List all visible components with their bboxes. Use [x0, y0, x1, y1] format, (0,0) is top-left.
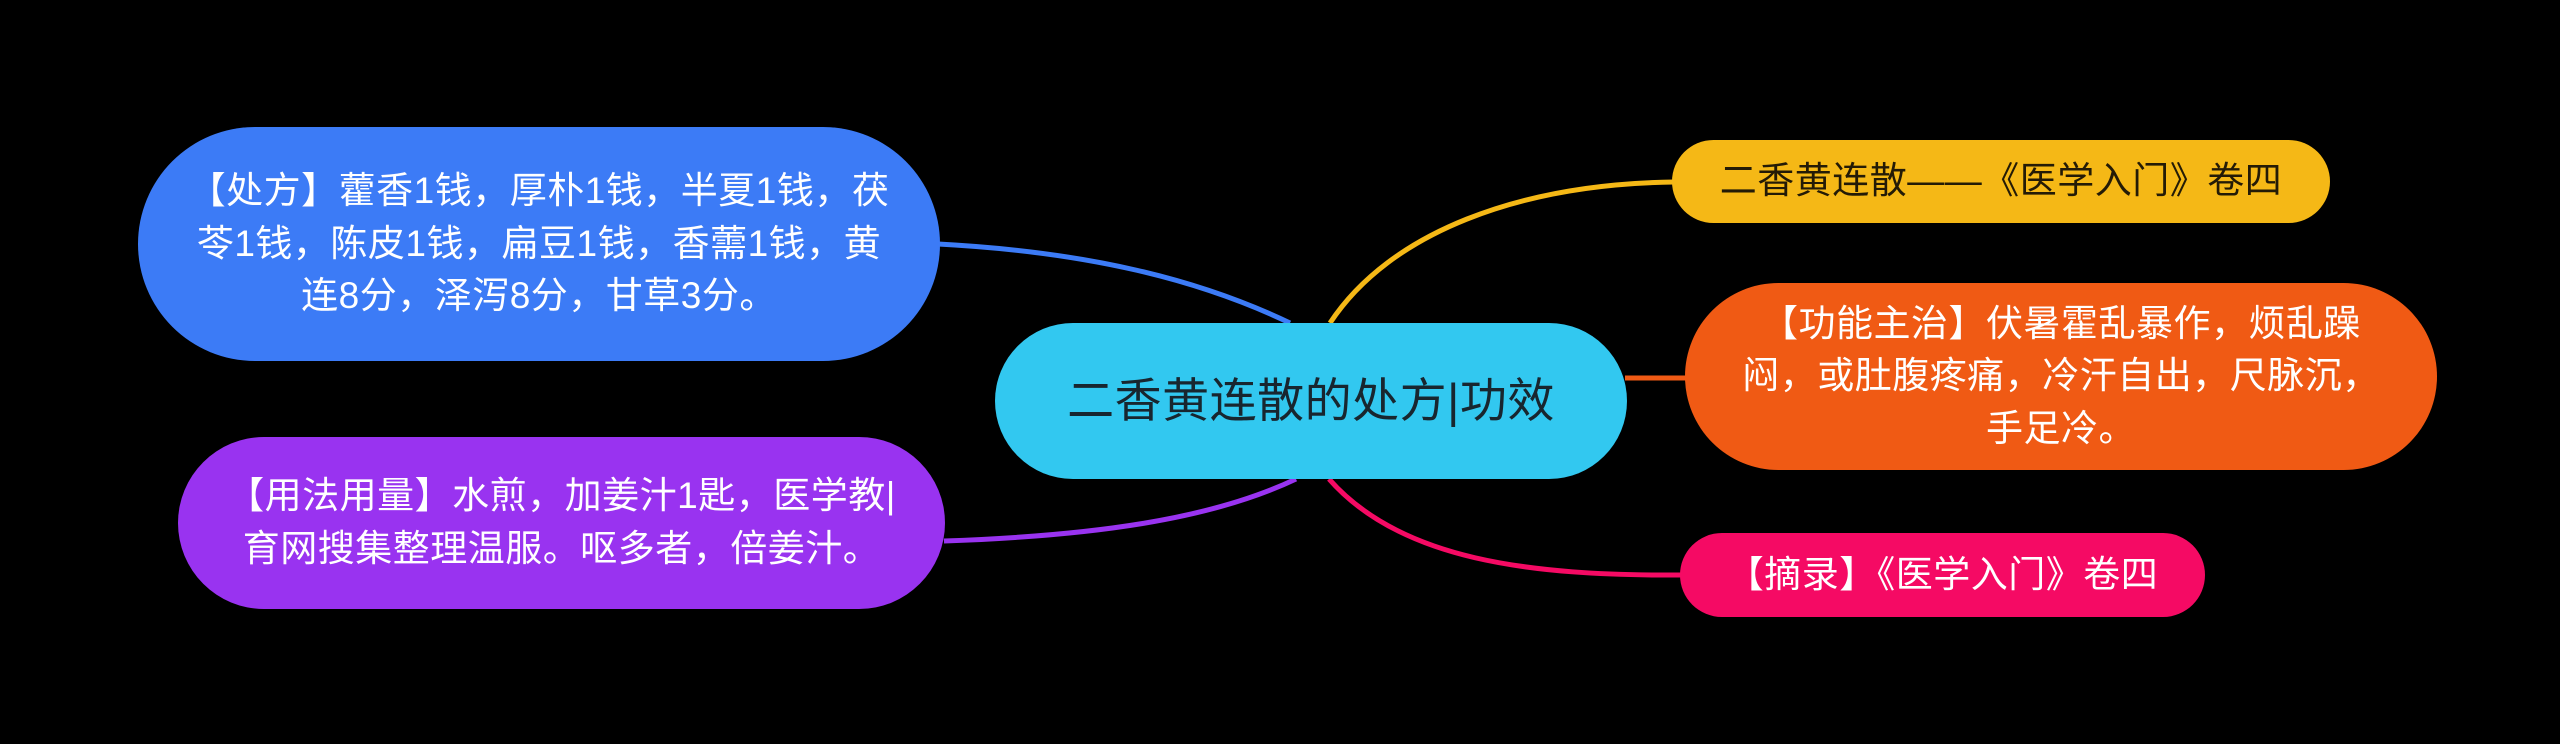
central-topic-node[interactable]: 二香黄连散的处方|功效 [995, 323, 1627, 479]
connector-source [1330, 182, 1674, 323]
connector-prescription [938, 244, 1290, 323]
branch-node-dosage[interactable]: 【用法用量】水煎，加姜汁1匙，医学教|育网搜集整理温服。呕多者，倍姜汁。 [178, 437, 945, 609]
branch-node-excerpt[interactable]: 【摘录】《医学入门》卷四 [1680, 533, 2205, 617]
mind-map-canvas: 【处方】藿香1钱，厚朴1钱，半夏1钱，茯苓1钱，陈皮1钱，扁豆1钱，香薷1钱，黄… [0, 0, 2560, 744]
connector-dosage [944, 479, 1296, 541]
branch-node-prescription[interactable]: 【处方】藿香1钱，厚朴1钱，半夏1钱，茯苓1钱，陈皮1钱，扁豆1钱，香薷1钱，黄… [138, 127, 940, 361]
connector-excerpt [1329, 479, 1681, 575]
branch-node-indications[interactable]: 【功能主治】伏暑霍乱暴作，烦乱躁闷，或肚腹疼痛，冷汗自出，尺脉沉，手足冷。 [1685, 283, 2437, 470]
branch-node-source[interactable]: 二香黄连散——《医学入门》卷四 [1672, 140, 2330, 223]
